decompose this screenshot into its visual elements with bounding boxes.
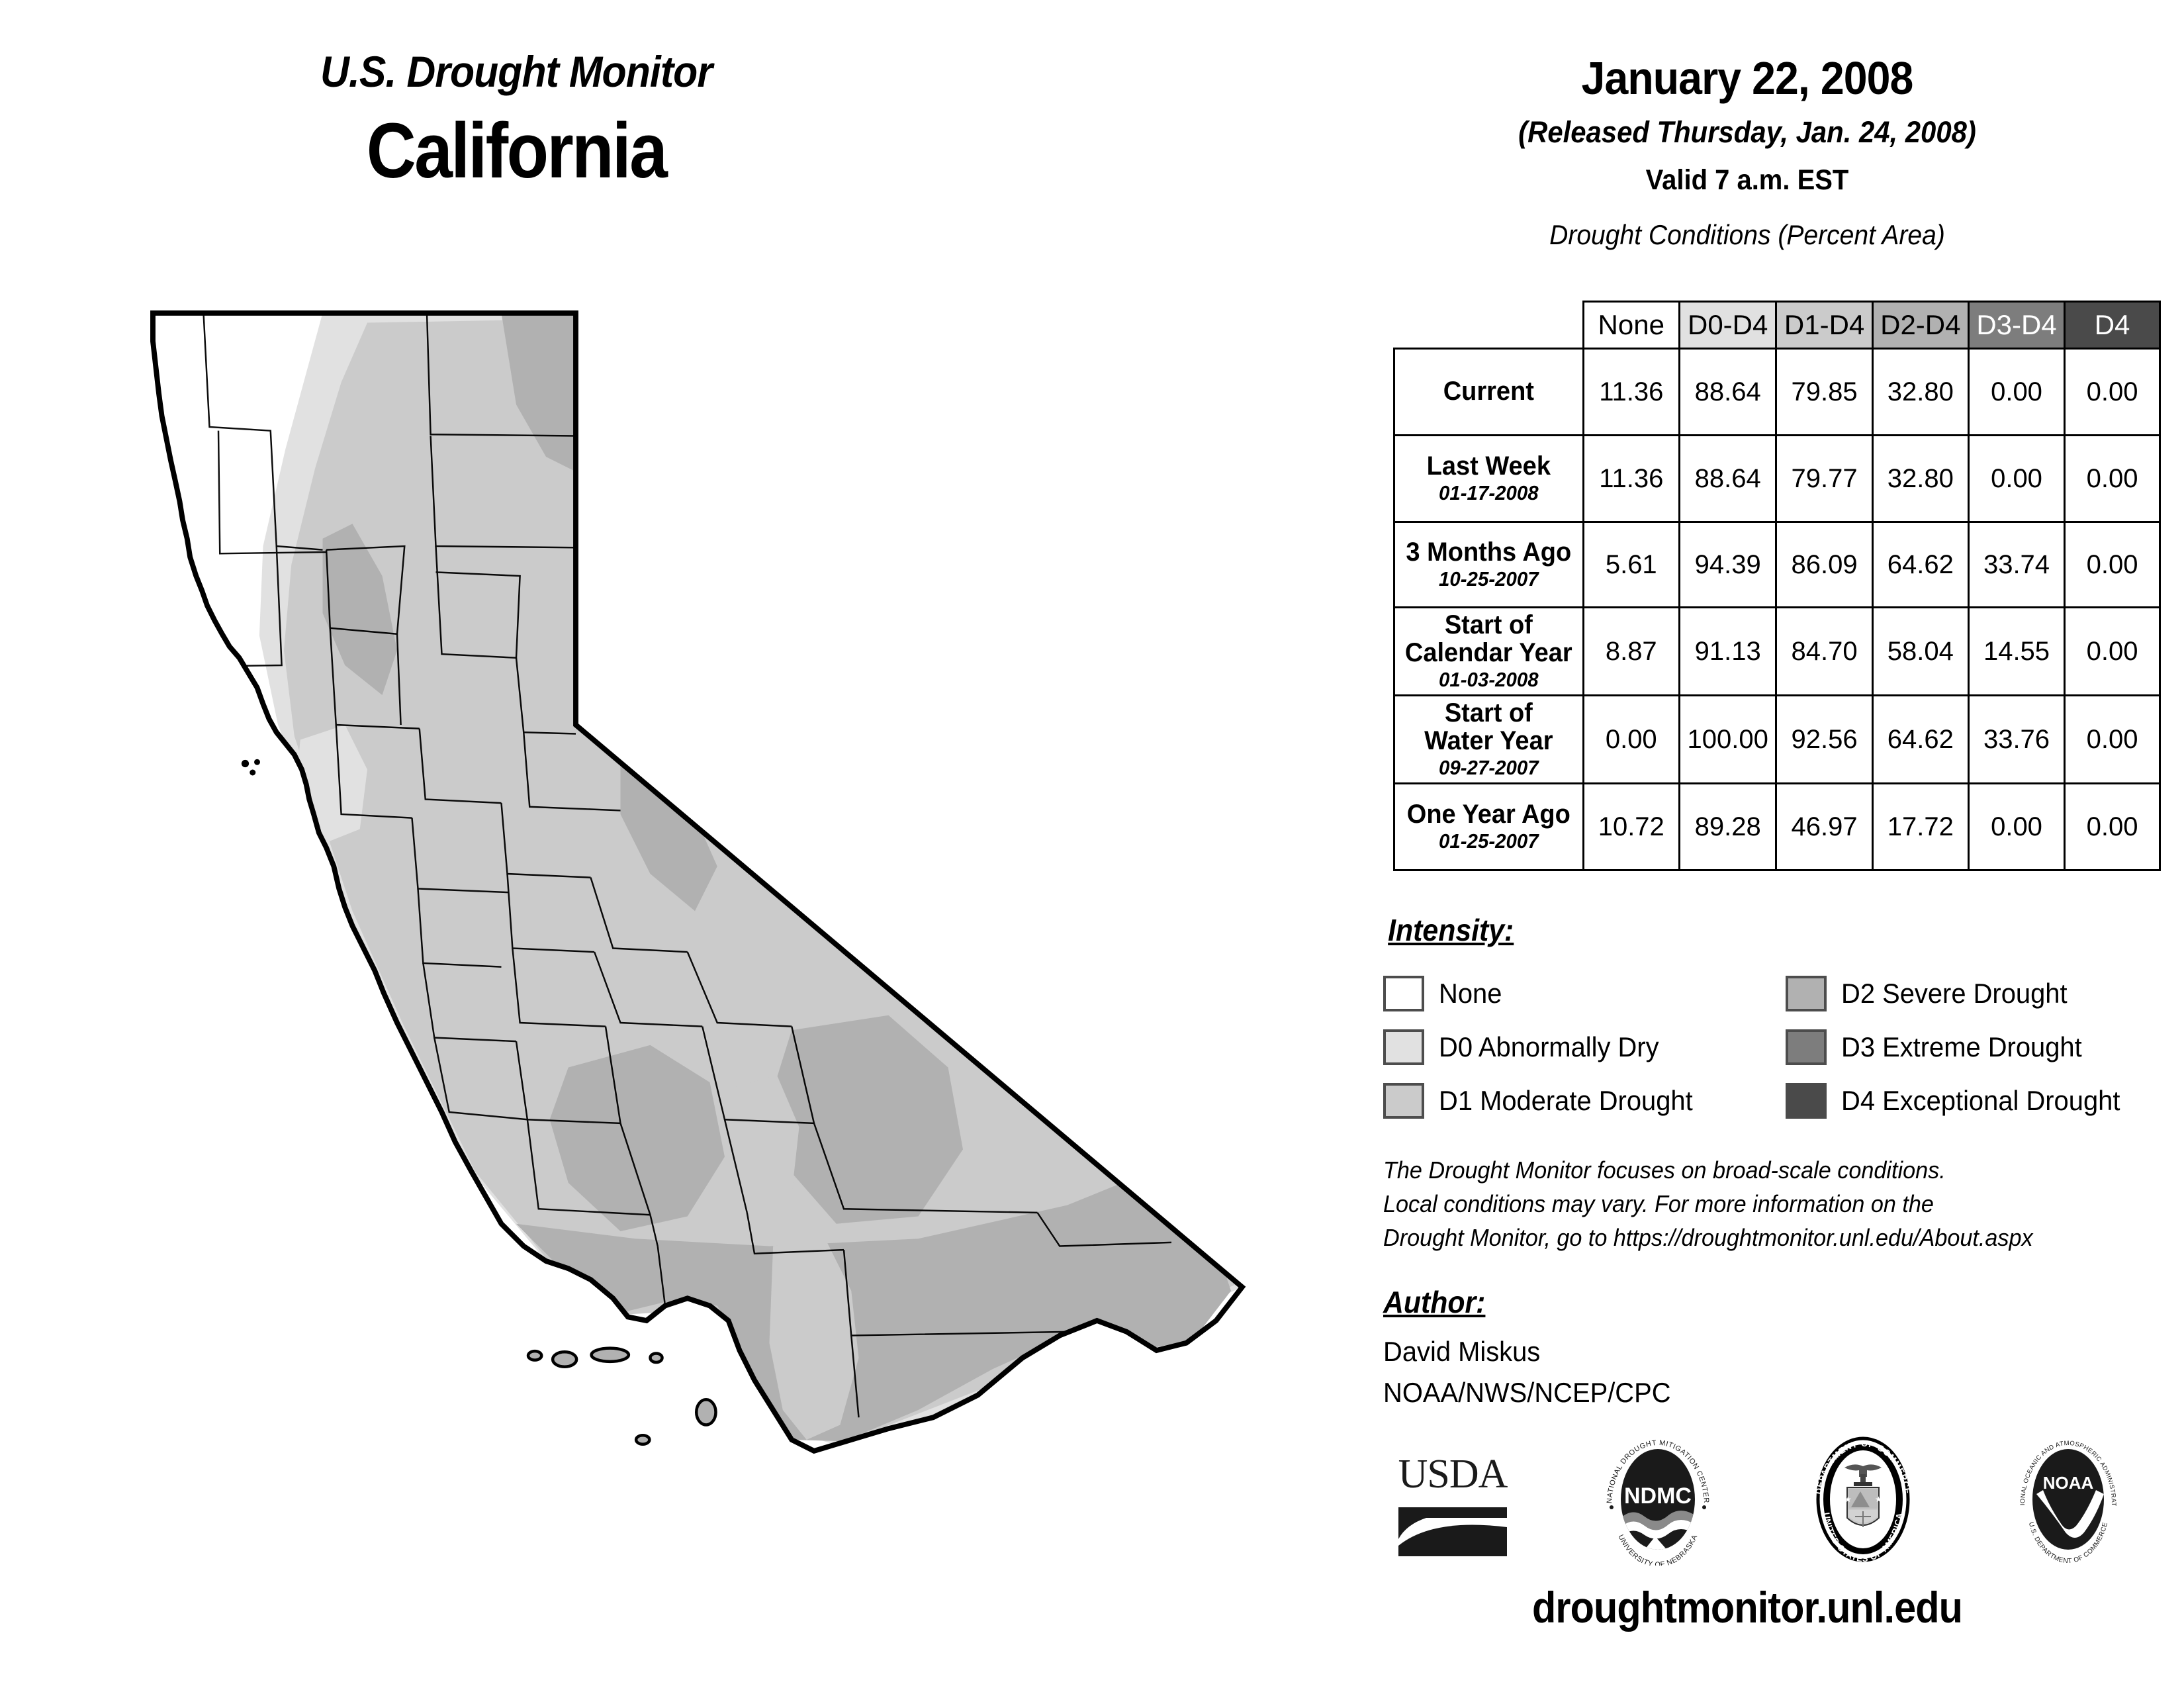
col-header-d1-d4: D1-D4 — [1776, 302, 1872, 349]
table-row: One Year Ago 01-25-2007 10.72 89.28 46.9… — [1394, 784, 2160, 870]
state-title: California — [62, 106, 971, 196]
legend-item-none: None — [1383, 968, 1706, 1019]
row-label-text: 3 Months Ago — [1400, 538, 1578, 566]
drought-conditions-table: None D0-D4 D1-D4 D2-D4 D3-D4 D4 Current … — [1393, 301, 2161, 871]
legend-item-d3: D3 Extreme Drought — [1786, 1021, 2135, 1073]
legend-label: D3 Extreme Drought — [1841, 1031, 2082, 1063]
col-header-d2-d4: D2-D4 — [1872, 302, 1968, 349]
cell-d4: 0.00 — [2065, 436, 2160, 522]
coastal-islets — [242, 759, 260, 776]
cell-none: 11.36 — [1583, 436, 1679, 522]
cell-d2-d4: 32.80 — [1872, 349, 1968, 436]
disclaimer-text: The Drought Monitor focuses on broad-sca… — [1383, 1153, 2033, 1254]
author-heading: Author: — [1383, 1284, 1485, 1320]
channel-islands — [528, 1348, 716, 1444]
cell-none: 10.72 — [1583, 784, 1679, 870]
author-name: David Miskus — [1383, 1336, 1540, 1368]
row-label-text: Start ofWater Year — [1400, 699, 1578, 755]
legend-column-left: None D0 Abnormally Dry D1 Moderate Droug… — [1383, 968, 1706, 1129]
svg-text:NOAA: NOAA — [2043, 1473, 2094, 1493]
cell-d2-d4: 58.04 — [1872, 608, 1968, 696]
col-header-d0-d4: D0-D4 — [1679, 302, 1776, 349]
svg-text:USDA: USDA — [1398, 1452, 1508, 1497]
cell-d4: 0.00 — [2065, 696, 2160, 784]
col-header-d4: D4 — [2065, 302, 2160, 349]
cell-none: 11.36 — [1583, 349, 1679, 436]
ndmc-logo: NDMC NATIONAL DROUGHT MITIGATION CENTER … — [1592, 1433, 1724, 1566]
legend-label: D1 Moderate Drought — [1439, 1085, 1693, 1117]
row-label-last-week: Last Week 01-17-2008 — [1394, 436, 1584, 522]
cell-d3-d4: 33.74 — [1968, 522, 2064, 608]
cell-d4: 0.00 — [2065, 349, 2160, 436]
swatch-d3-icon — [1786, 1029, 1827, 1065]
cell-d4: 0.00 — [2065, 522, 2160, 608]
row-label-date: 01-17-2008 — [1400, 482, 1578, 504]
svg-text:★: ★ — [1844, 1495, 1852, 1504]
program-title: U.S. Drought Monitor — [41, 46, 991, 97]
swatch-none-icon — [1383, 976, 1424, 1011]
cell-d3-d4: 33.76 — [1968, 696, 2064, 784]
row-label-one-year-ago: One Year Ago 01-25-2007 — [1394, 784, 1584, 870]
cell-d0-d4: 94.39 — [1679, 522, 1776, 608]
row-label-text: Last Week — [1400, 452, 1578, 480]
legend-label: D4 Exceptional Drought — [1841, 1085, 2120, 1117]
cell-d3-d4: 14.55 — [1968, 608, 2064, 696]
release-date: (Released Thursday, Jan. 24, 2008) — [1341, 115, 2154, 150]
table-row: 3 Months Ago 10-25-2007 5.61 94.39 86.09… — [1394, 522, 2160, 608]
table-header: None D0-D4 D1-D4 D2-D4 D3-D4 D4 — [1394, 302, 2160, 349]
cell-d1-d4: 86.09 — [1776, 522, 1872, 608]
noaa-logo: NOAA NATIONAL OCEANIC AND ATMOSPHERIC AD… — [2002, 1433, 2134, 1566]
cell-d3-d4: 0.00 — [1968, 349, 2064, 436]
title-block: U.S. Drought Monitor California — [0, 46, 1032, 196]
legend-item-d1: D1 Moderate Drought — [1383, 1075, 1706, 1127]
usda-logo: USDA — [1387, 1433, 1519, 1566]
table-row: Start ofWater Year 09-27-2007 0.00 100.0… — [1394, 696, 2160, 784]
cell-none: 0.00 — [1583, 696, 1679, 784]
cell-d2-d4: 32.80 — [1872, 436, 1968, 522]
row-label-date: 09-27-2007 — [1400, 757, 1578, 779]
row-label-start-of-water-year: Start ofWater Year 09-27-2007 — [1394, 696, 1584, 784]
california-drought-map[interactable] — [99, 278, 1291, 1470]
cell-d0-d4: 88.64 — [1679, 349, 1776, 436]
cell-d0-d4: 89.28 — [1679, 784, 1776, 870]
cell-d0-d4: 88.64 — [1679, 436, 1776, 522]
info-panel: January 22, 2008 (Released Thursday, Jan… — [1310, 0, 2184, 1688]
legend-label: D0 Abnormally Dry — [1439, 1031, 1659, 1063]
row-label-date: 10-25-2007 — [1400, 568, 1578, 590]
intensity-heading: Intensity: — [1388, 912, 1514, 948]
row-label-start-of-calendar-year: Start ofCalendar Year 01-03-2008 — [1394, 608, 1584, 696]
partner-logos: USDA NDMC NATIONAL DROUGHT MITIGATION CE… — [1350, 1423, 2171, 1575]
row-label-text: Current — [1400, 377, 1578, 405]
table-row: Current 11.36 88.64 79.85 32.80 0.00 0.0… — [1394, 349, 2160, 436]
row-label-text: Start ofCalendar Year — [1400, 611, 1578, 667]
table-caption: Drought Conditions (Percent Area) — [1341, 219, 2154, 251]
legend-label: D2 Severe Drought — [1841, 978, 2068, 1009]
table-corner-cell — [1394, 302, 1584, 349]
legend-label: None — [1439, 978, 1502, 1009]
legend-item-d0: D0 Abnormally Dry — [1383, 1021, 1706, 1073]
cell-d0-d4: 100.00 — [1679, 696, 1776, 784]
cell-d0-d4: 91.13 — [1679, 608, 1776, 696]
legend-column-right: D2 Severe Drought D3 Extreme Drought D4 … — [1786, 968, 2135, 1129]
table-row: Last Week 01-17-2008 11.36 88.64 79.77 3… — [1394, 436, 2160, 522]
swatch-d4-icon — [1786, 1083, 1827, 1119]
row-label-date: 01-25-2007 — [1400, 830, 1578, 853]
row-label-date: 01-03-2008 — [1400, 669, 1578, 691]
table-body: Current 11.36 88.64 79.85 32.80 0.00 0.0… — [1394, 349, 2160, 870]
cell-d4: 0.00 — [2065, 784, 2160, 870]
swatch-d1-icon — [1383, 1083, 1424, 1119]
cell-d1-d4: 92.56 — [1776, 696, 1872, 784]
swatch-d0-icon — [1383, 1029, 1424, 1065]
table-row: Start ofCalendar Year 01-03-2008 8.87 91… — [1394, 608, 2160, 696]
cell-none: 5.61 — [1583, 522, 1679, 608]
cell-d1-d4: 79.77 — [1776, 436, 1872, 522]
col-header-d3-d4: D3-D4 — [1968, 302, 2064, 349]
valid-date: January 22, 2008 — [1345, 52, 2149, 105]
legend-item-d4: D4 Exceptional Drought — [1786, 1075, 2135, 1127]
col-header-none: None — [1583, 302, 1679, 349]
cell-d3-d4: 0.00 — [1968, 436, 2064, 522]
svg-text:★: ★ — [1875, 1495, 1882, 1504]
row-label-text: One Year Ago — [1400, 800, 1578, 828]
date-block: January 22, 2008 (Released Thursday, Jan… — [1310, 0, 2184, 197]
cell-d1-d4: 84.70 — [1776, 608, 1872, 696]
doc-seal: DEPARTMENT OF COMMERCE UNITED STATES OF … — [1797, 1433, 1929, 1566]
row-label-current: Current — [1394, 349, 1584, 436]
cell-d2-d4: 64.62 — [1872, 696, 1968, 784]
cell-d1-d4: 46.97 — [1776, 784, 1872, 870]
author-organization: NOAA/NWS/NCEP/CPC — [1383, 1377, 1671, 1409]
map-panel: U.S. Drought Monitor California — [0, 0, 1310, 1688]
cell-d1-d4: 79.85 — [1776, 349, 1872, 436]
svg-text:NDMC: NDMC — [1624, 1483, 1692, 1509]
cell-d3-d4: 0.00 — [1968, 784, 2064, 870]
cell-d2-d4: 17.72 — [1872, 784, 1968, 870]
website-url[interactable]: droughtmonitor.unl.edu — [1354, 1582, 2140, 1632]
cell-d2-d4: 64.62 — [1872, 522, 1968, 608]
legend-item-d2: D2 Severe Drought — [1786, 968, 2135, 1019]
row-label-3-months-ago: 3 Months Ago 10-25-2007 — [1394, 522, 1584, 608]
cell-d4: 0.00 — [2065, 608, 2160, 696]
cell-none: 8.87 — [1583, 608, 1679, 696]
swatch-d2-icon — [1786, 976, 1827, 1011]
valid-time: Valid 7 a.m. EST — [1341, 164, 2154, 197]
